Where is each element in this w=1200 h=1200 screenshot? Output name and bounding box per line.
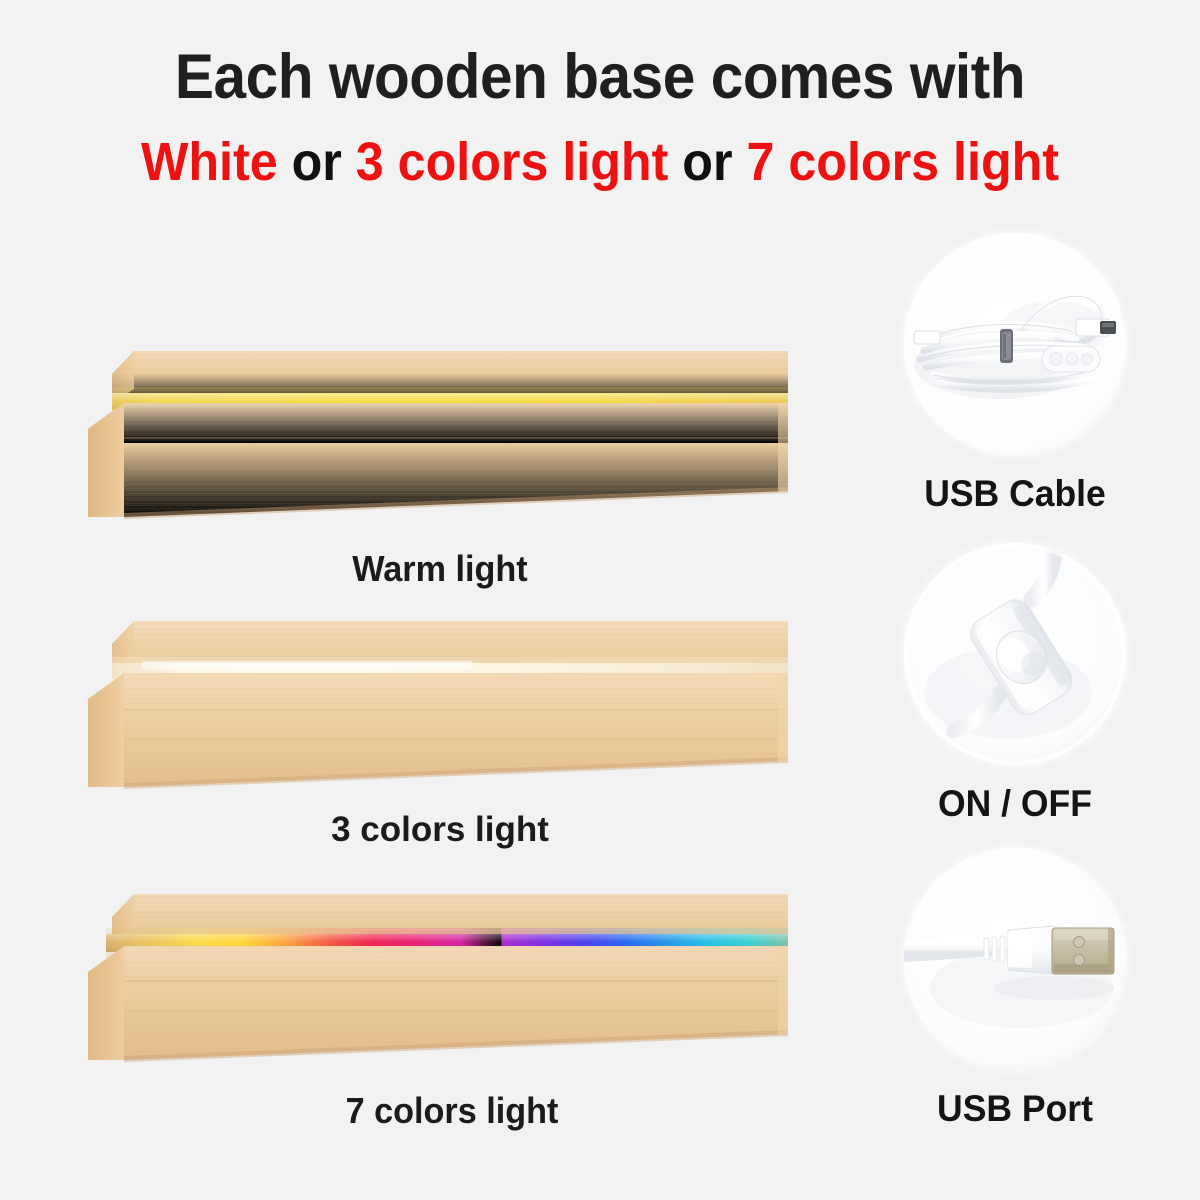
left-end-face xyxy=(88,946,124,1060)
product-image-3-colors-light xyxy=(72,597,812,812)
usb-cable-photo-circle xyxy=(904,233,1126,455)
headline-conjunction-2: or xyxy=(682,132,732,192)
accessory-on-off-switch: ON / OFF xyxy=(904,543,1126,825)
inline-switch-on-cable xyxy=(1042,346,1100,372)
accessory-label-usb-port: USB Port xyxy=(908,1088,1121,1130)
headline-line-1: Each wooden base comes with xyxy=(42,44,1158,110)
headline-option-7-colors: 7 colors light xyxy=(746,132,1059,192)
warm-light-base-illustration xyxy=(72,327,812,542)
product-image-warm-light xyxy=(72,327,812,542)
inline-rocker-switch-icon xyxy=(904,543,1126,765)
usb-cable-coil-icon xyxy=(904,233,1126,455)
left-end-face xyxy=(88,673,124,787)
caption-3-colors-light: 3 colors light xyxy=(0,810,880,850)
accessory-usb-cable: USB Cable xyxy=(904,233,1126,515)
headline-option-3-colors: 3 colors light xyxy=(356,132,669,192)
accessory-label-usb-cable: USB Cable xyxy=(908,473,1121,515)
accessory-label-on-off: ON / OFF xyxy=(908,783,1121,825)
headline-conjunction-1: or xyxy=(292,132,342,192)
usb-connector-tail xyxy=(914,331,940,344)
seven-colors-base-illustration xyxy=(72,870,812,1085)
on-off-switch-photo-circle xyxy=(904,543,1126,765)
usb-a-connector-icon xyxy=(904,848,1126,1070)
accessory-usb-port: USB Port xyxy=(904,848,1126,1130)
three-colors-base-illustration xyxy=(72,597,812,812)
left-end-face xyxy=(88,403,124,517)
caption-warm-light: Warm light xyxy=(22,548,858,590)
usb-port-photo-circle xyxy=(904,848,1126,1070)
headline-option-white: White xyxy=(141,132,278,192)
cable-tie xyxy=(1000,329,1013,363)
headline-block: Each wooden base comes with White or 3 c… xyxy=(0,44,1200,191)
usb-connector-head xyxy=(1076,319,1116,336)
headline-line-2: White or 3 colors light or 7 colors ligh… xyxy=(42,134,1158,191)
caption-7-colors-light: 7 colors light xyxy=(34,1090,870,1132)
product-image-7-colors-light xyxy=(72,870,812,1085)
